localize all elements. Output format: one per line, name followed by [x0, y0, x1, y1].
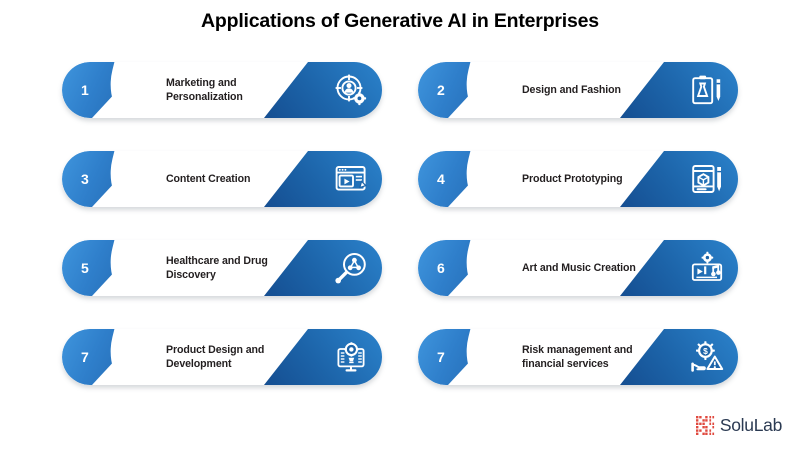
application-card[interactable]: 3 Content Creation	[62, 151, 382, 207]
card-number-badge	[62, 151, 152, 207]
applications-card-grid: 1 Marketing and Personalization	[62, 62, 738, 385]
hand-dollar-gear-warning-icon: $	[690, 340, 724, 374]
application-card[interactable]: 4 Product Prototyping	[418, 151, 738, 207]
application-card[interactable]: 7 Risk management and financial services…	[418, 329, 738, 385]
application-card[interactable]: 1 Marketing and Personalization	[62, 62, 382, 118]
svg-text:$: $	[703, 346, 708, 356]
card-number-badge	[418, 329, 508, 385]
card-number-label: 3	[81, 151, 89, 207]
card-number-badge	[62, 240, 152, 296]
card-number-label: 2	[437, 62, 445, 118]
application-card[interactable]: 7 Product Design and Development	[62, 329, 382, 385]
monitor-bulb-gear-icon	[334, 340, 368, 374]
application-card[interactable]: 2 Design and Fashion	[418, 62, 738, 118]
target-person-gear-icon	[334, 73, 368, 107]
gear-play-music-note-icon	[690, 251, 724, 285]
application-card[interactable]: 5 Healthcare and Drug Discovery	[62, 240, 382, 296]
card-number-label: 6	[437, 240, 445, 296]
card-number-label: 4	[437, 151, 445, 207]
sketchpad-dress-pencil-icon	[690, 73, 724, 107]
card-number-label: 7	[437, 329, 445, 385]
application-card[interactable]: 6 Art and Music Creation	[418, 240, 738, 296]
magnifier-molecule-icon	[334, 251, 368, 285]
solulab-logo: SoluLab	[696, 415, 782, 436]
solulab-pixel-mark-icon	[696, 416, 715, 435]
card-number-badge	[418, 240, 508, 296]
cube-frame-pencil-icon	[690, 162, 724, 196]
card-number-badge	[418, 62, 508, 118]
page-title: Applications of Generative AI in Enterpr…	[0, 10, 800, 33]
browser-video-pencil-icon	[334, 162, 368, 196]
card-number-label: 7	[81, 329, 89, 385]
card-number-label: 5	[81, 240, 89, 296]
card-number-badge	[418, 151, 508, 207]
solulab-wordmark: SoluLab	[720, 415, 782, 436]
card-number-label: 1	[81, 62, 89, 118]
card-number-badge	[62, 62, 152, 118]
card-number-badge	[62, 329, 152, 385]
